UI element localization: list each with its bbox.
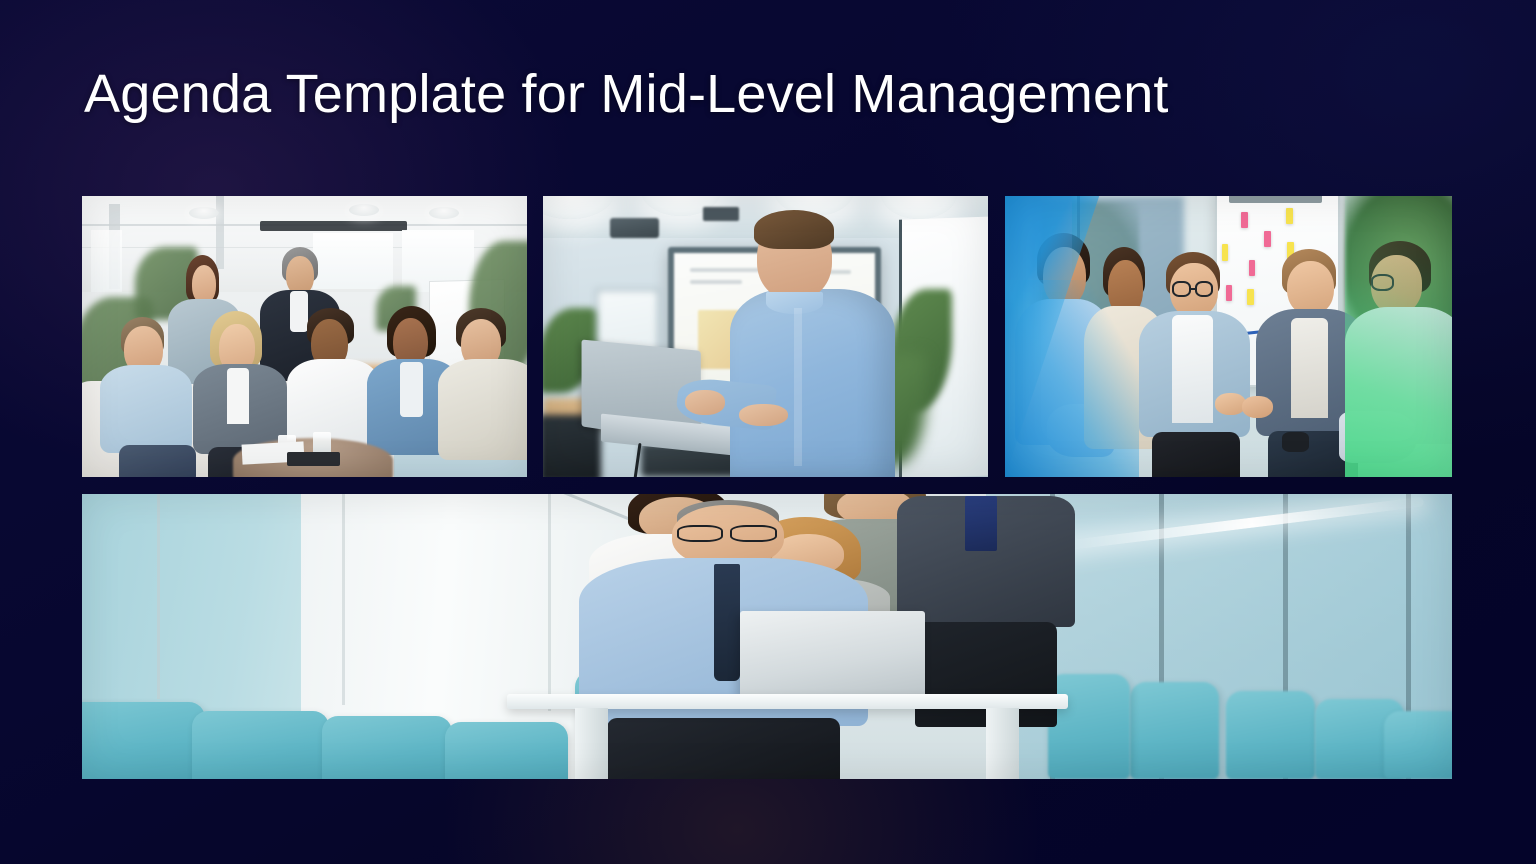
image-brainstorm-circle (1005, 196, 1452, 477)
page-title: Agenda Template for Mid-Level Management (84, 64, 1169, 124)
image-team-lounge (82, 196, 527, 477)
image-meeting-room-wide (82, 494, 1452, 779)
slide-canvas: Agenda Template for Mid-Level Management (0, 0, 1536, 864)
image-presenter-laptop (543, 196, 988, 477)
